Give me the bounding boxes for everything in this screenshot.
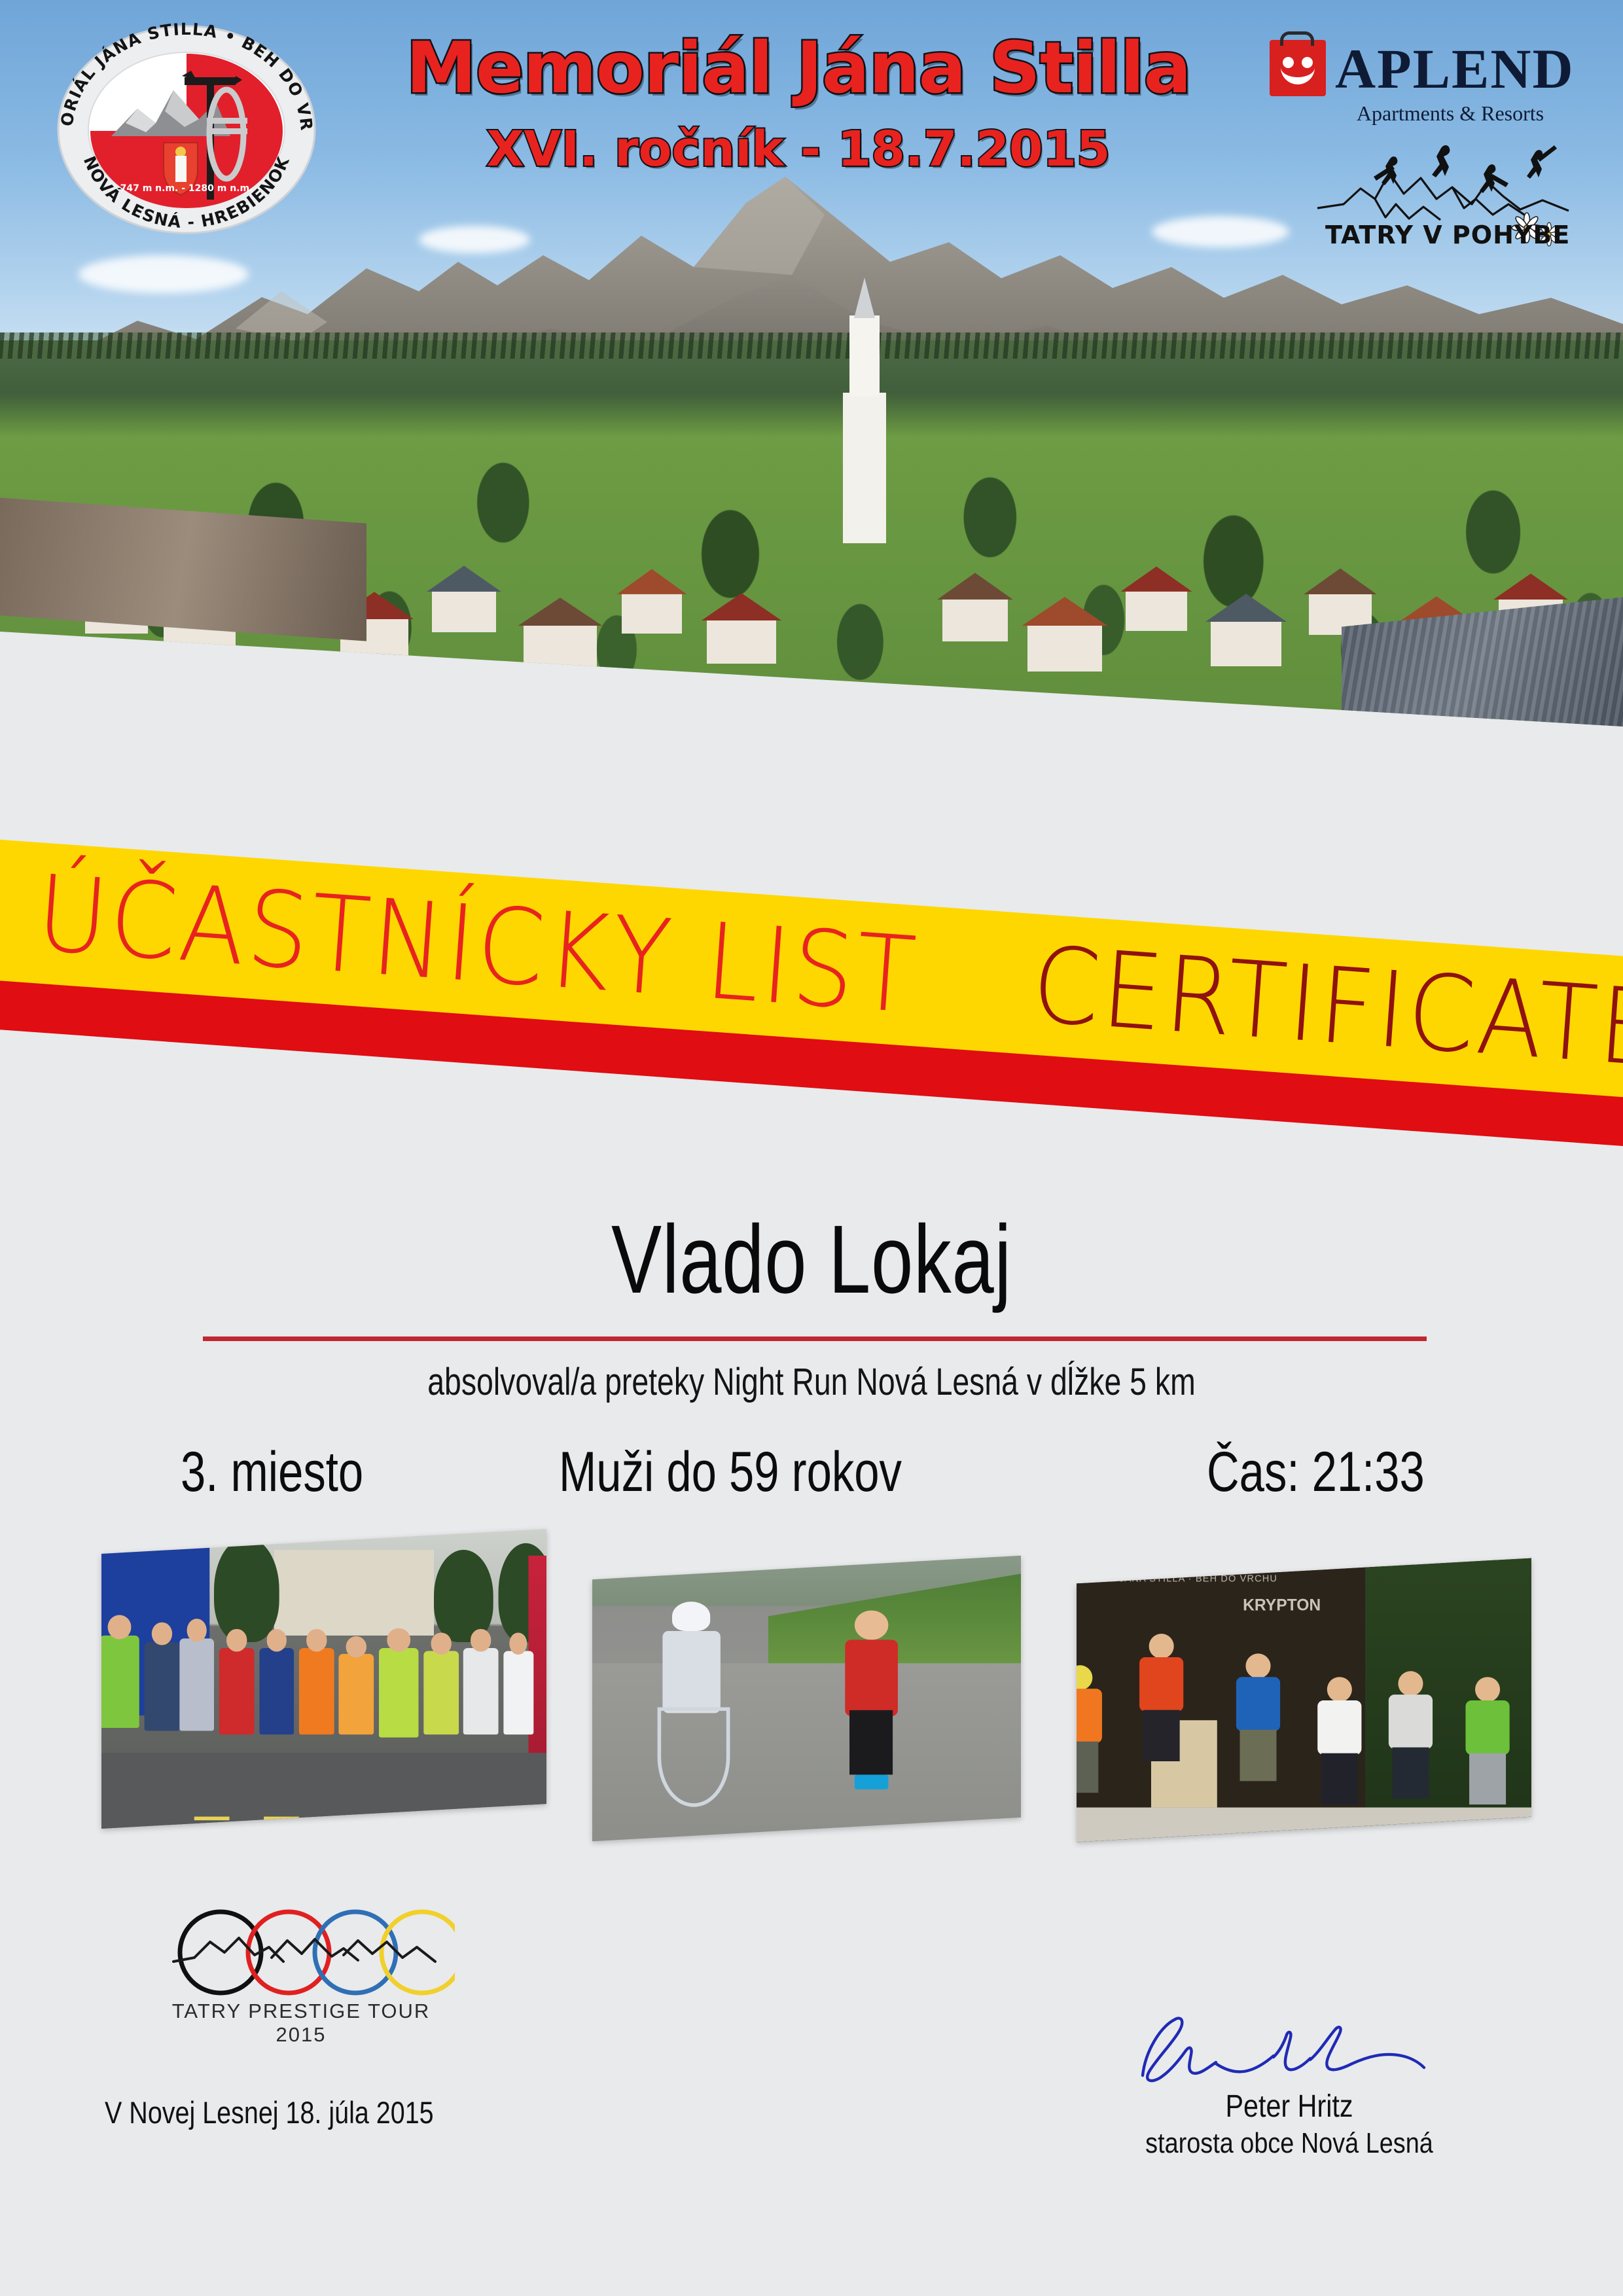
event-seal-logo: MEMORIÁL JÁNA STILLA • BEH DO VRCHU NOVÁ…: [39, 20, 334, 236]
result-category: Muži do 59 rokov: [543, 1440, 941, 1505]
aplend-logo: APLEND Apartments & Resorts: [1270, 36, 1571, 108]
photo-cyclist-runner: [592, 1556, 1021, 1842]
event-subtitle: XVI. ročník - 18.7.2015: [366, 121, 1230, 177]
results-row: 3. miesto Muži do 59 rokov Čas: 21:33: [118, 1440, 1505, 1505]
signatory-name: Peter Hritz: [1132, 2089, 1447, 2125]
divider-rule: [203, 1336, 1427, 1341]
ring-yellow: [382, 1912, 455, 1993]
aplend-wordmark: APLEND: [1335, 36, 1575, 101]
result-place: 3. miesto: [118, 1440, 401, 1505]
tatry-v-pohybe-wordmark: TATRY V POHYBE: [1325, 221, 1570, 249]
tatry-prestige-tour-label: TATRY PRESTIGE TOUR 2015: [147, 2000, 455, 2047]
aplend-house-icon: [1270, 40, 1326, 96]
signature-icon: [1119, 2013, 1427, 2091]
photo-strip: MEMORIÁL JÁNA STILLA · BEH DO VRCHU KRYP…: [0, 1525, 1623, 1905]
photo-podium-ceremony: MEMORIÁL JÁNA STILLA · BEH DO VRCHU KRYP…: [1077, 1558, 1531, 1842]
result-time: Čas: 21:33: [1113, 1440, 1427, 1505]
photo-race-start: [101, 1529, 546, 1829]
certificate-page: MEMORIÁL JÁNA STILLA • BEH DO VRCHU NOVÁ…: [0, 0, 1623, 2296]
achievement-text: absolvoval/a preteky Night Run Nová Lesn…: [162, 1360, 1461, 1404]
event-title: Memoriál Jána Stilla: [366, 27, 1230, 109]
recipient-name: Vlado Lokaj: [179, 1204, 1444, 1316]
signatory-role: starosta obce Nová Lesná: [1132, 2127, 1447, 2160]
place-and-date: V Novej Lesnej 18. júla 2015: [105, 2094, 434, 2130]
certificate-banner: ÚČASTNÍCKY LIST CERTIFICATE: [0, 740, 1623, 1145]
seal-elevation-text: 747 m n.m. - 1280 m n.m.: [120, 183, 253, 194]
signature-block: Peter Hritz starosta obce Nová Lesná: [1106, 2013, 1472, 2160]
aplend-tagline: Apartments & Resorts: [1332, 101, 1568, 126]
church: [843, 393, 886, 543]
tatry-v-pohybe-logo: TATRY V POHYBE: [1312, 131, 1574, 252]
